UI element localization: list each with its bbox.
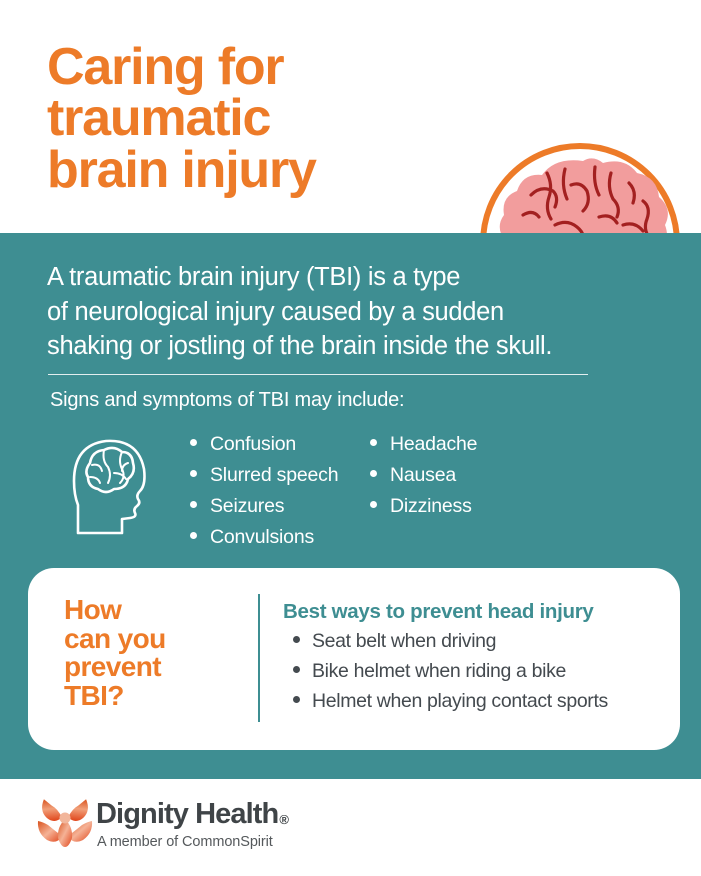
symptom-label: Nausea xyxy=(390,464,456,487)
bullet-dot-icon xyxy=(293,696,300,703)
bullet-dot-icon xyxy=(370,439,377,446)
symptom-label: Dizziness xyxy=(390,495,472,518)
bullet-dot-icon xyxy=(190,470,197,477)
question-line-3: prevent xyxy=(64,653,239,682)
title-line-1: Caring for xyxy=(47,42,427,93)
bullet-dot-icon xyxy=(293,636,300,643)
prevention-question: How can you prevent TBI? xyxy=(64,596,239,710)
symptom-label: Headache xyxy=(390,433,477,456)
signs-symptoms-label: Signs and symptoms of TBI may include: xyxy=(50,389,404,412)
head-profile-brain-icon xyxy=(62,433,167,541)
prevention-item: Helmet when playing contact sports xyxy=(283,690,663,720)
horizontal-divider xyxy=(48,374,588,375)
symptom-item: Nausea xyxy=(370,464,477,495)
prevention-item: Bike helmet when riding a bike xyxy=(283,660,663,690)
bullet-dot-icon xyxy=(190,501,197,508)
title-line-2: traumatic xyxy=(47,93,427,144)
bullet-dot-icon xyxy=(190,532,197,539)
footer-section: Dignity Health® A member of CommonSpirit xyxy=(0,779,701,876)
brand-wordmark: Dignity Health® xyxy=(96,798,287,831)
symptoms-column-right: Headache Nausea Dizziness xyxy=(370,433,477,526)
prevention-label: Helmet when playing contact sports xyxy=(312,690,608,713)
question-line-1: How xyxy=(64,596,239,625)
symptom-label: Seizures xyxy=(210,495,284,518)
intro-paragraph: A traumatic brain injury (TBI) is a type… xyxy=(47,260,607,364)
vertical-divider xyxy=(258,594,260,722)
symptoms-column-left: Confusion Slurred speech Seizures Convul… xyxy=(190,433,338,557)
prevention-list-section: Best ways to prevent head injury Seat be… xyxy=(283,600,663,720)
title-line-3: brain injury xyxy=(47,145,427,196)
intro-line-1: A traumatic brain injury (TBI) is a type xyxy=(47,260,607,295)
intro-line-3: shaking or jostling of the brain inside … xyxy=(47,329,607,364)
symptom-item: Confusion xyxy=(190,433,338,464)
symptom-label: Convulsions xyxy=(210,526,314,549)
symptom-item: Seizures xyxy=(190,495,338,526)
brand-name: Dignity Health xyxy=(96,798,278,830)
prevention-label: Bike helmet when riding a bike xyxy=(312,660,566,683)
question-line-2: can you xyxy=(64,625,239,654)
symptom-item: Dizziness xyxy=(370,495,477,526)
symptom-item: Convulsions xyxy=(190,526,338,557)
intro-line-2: of neurological injury caused by a sudde… xyxy=(47,295,607,330)
bullet-dot-icon xyxy=(190,439,197,446)
question-line-4: TBI? xyxy=(64,682,239,711)
prevention-label: Seat belt when driving xyxy=(312,630,496,653)
bullet-dot-icon xyxy=(370,501,377,508)
symptom-label: Confusion xyxy=(210,433,296,456)
symptom-label: Slurred speech xyxy=(210,464,338,487)
dignity-health-petal-logo-icon xyxy=(36,795,94,847)
prevention-heading: Best ways to prevent head injury xyxy=(283,600,663,624)
page-title: Caring for traumatic brain injury xyxy=(47,42,427,196)
infographic-root: Caring for traumatic brain injury xyxy=(0,0,701,876)
bullet-dot-icon xyxy=(293,666,300,673)
registered-mark: ® xyxy=(279,812,288,827)
symptom-item: Slurred speech xyxy=(190,464,338,495)
prevention-item: Seat belt when driving xyxy=(283,630,663,660)
prevention-card: How can you prevent TBI? Best ways to pr… xyxy=(28,568,680,750)
symptom-item: Headache xyxy=(370,433,477,464)
brand-tagline: A member of CommonSpirit xyxy=(97,834,273,850)
bullet-dot-icon xyxy=(370,470,377,477)
